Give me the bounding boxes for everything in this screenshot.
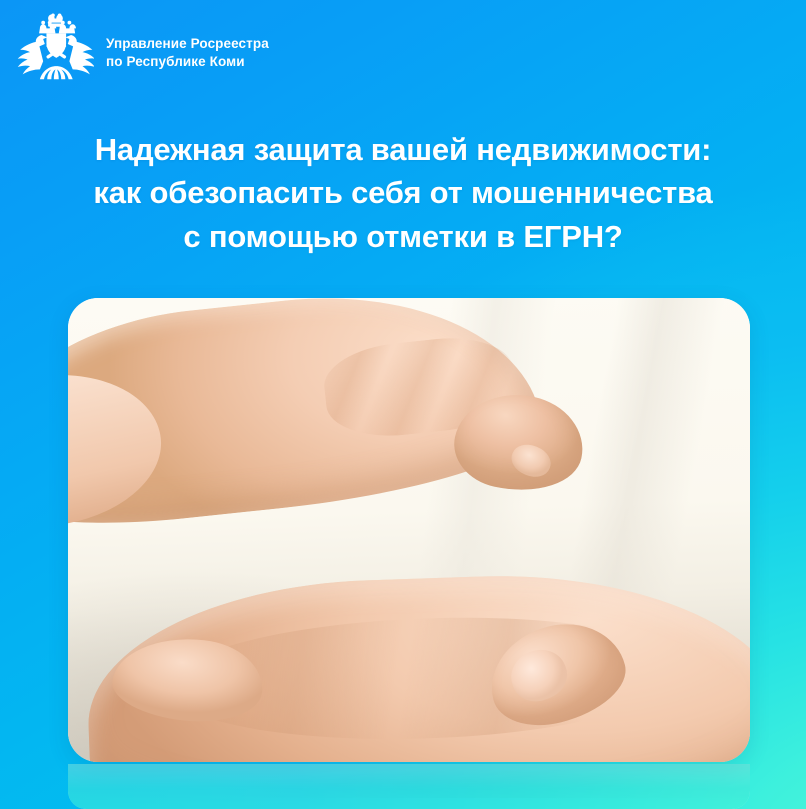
photo-content — [68, 298, 750, 762]
brand-header: Управление Росреестра по Республике Коми — [12, 12, 269, 94]
title-line-2: как обезопасить себя от мошенничества — [26, 171, 780, 214]
photo-reflection — [68, 764, 750, 809]
title-line-1: Надежная защита вашей недвижимости: — [26, 128, 780, 171]
reflection-hand-tint — [108, 764, 748, 798]
reflection-image — [68, 764, 750, 809]
brand-name: Управление Росреестра по Республике Коми — [106, 17, 269, 89]
page-title: Надежная защита вашей недвижимости: как … — [0, 128, 806, 258]
rosreestr-eagle-icon — [12, 12, 94, 94]
poster-canvas: Управление Росреестра по Республике Коми… — [0, 0, 806, 809]
brand-line-2: по Республике Коми — [106, 53, 269, 71]
hero-photo — [68, 298, 750, 762]
brand-line-1: Управление Росреестра — [106, 36, 269, 51]
title-line-3: с помощью отметки в ЕГРН? — [26, 215, 780, 258]
